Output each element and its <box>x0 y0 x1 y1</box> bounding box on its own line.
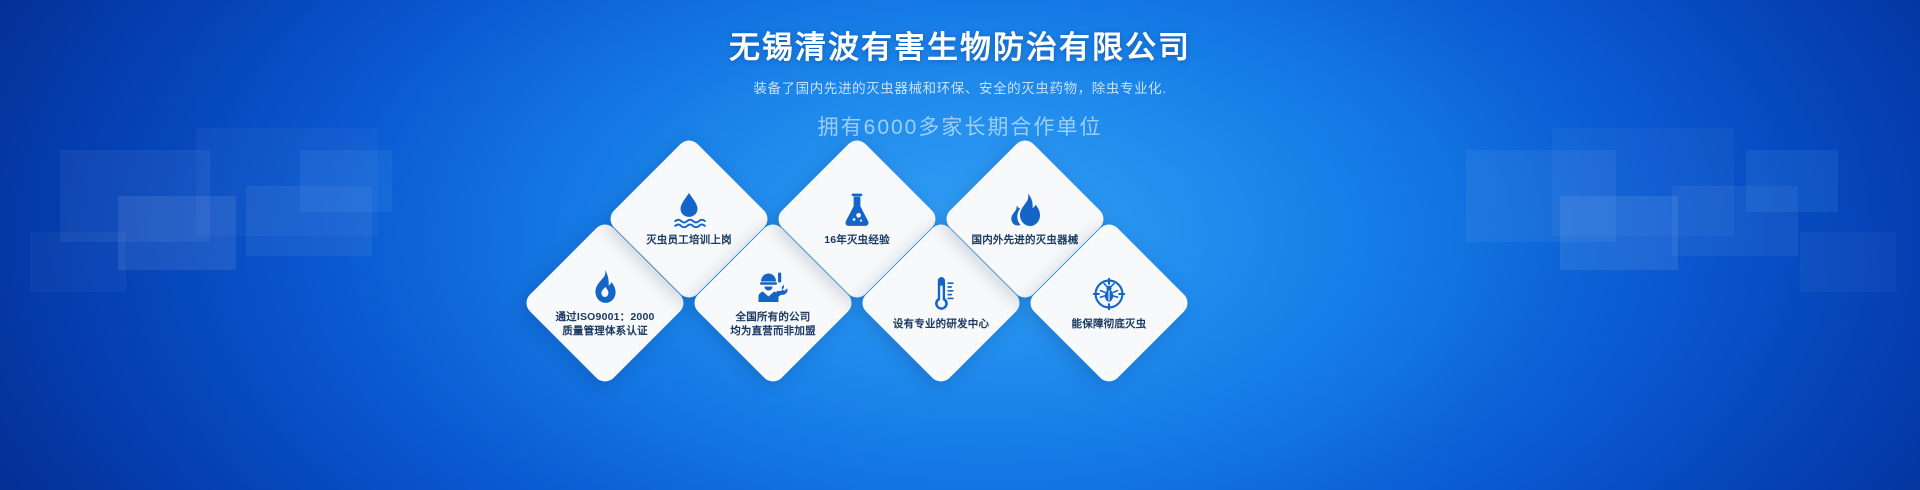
bug-target-icon <box>1092 276 1126 312</box>
feature-card-line1: 通过ISO9001：2000 <box>555 311 654 323</box>
feature-card-label: 设有专业的研发中心 <box>893 317 989 331</box>
thermometer-icon <box>924 276 958 312</box>
worker-wrench-icon <box>756 269 790 305</box>
feature-card-line1: 设有专业的研发中心 <box>893 318 989 330</box>
feature-card-line1: 16年灭虫经验 <box>824 234 890 246</box>
feature-card-label: 通过ISO9001：2000 质量管理体系认证 <box>555 310 654 338</box>
feature-card-label: 能保障彻底灭虫 <box>1072 317 1147 331</box>
feature-card-line2: 均为直营而非加盟 <box>730 324 816 338</box>
feature-card-guarantee[interactable]: 能保障彻底灭虫 <box>1026 220 1193 387</box>
feature-card-line1: 全国所有的公司 <box>736 311 811 323</box>
promo-banner: 无锡清波有害生物防治有限公司 装备了国内先进的灭虫器械和环保、安全的灭虫药物，除… <box>0 0 1920 490</box>
flask-icon <box>840 192 874 228</box>
feature-diamond-grid: 通过ISO9001：2000 质量管理体系认证 灭虫员工培训上岗 <box>0 148 1920 398</box>
feature-card-line1: 能保障彻底灭虫 <box>1072 318 1147 330</box>
water-drop-icon <box>672 192 706 228</box>
banner-title: 无锡清波有害生物防治有限公司 <box>0 28 1920 68</box>
banner-subtitle: 装备了国内先进的灭虫器械和环保、安全的灭虫药物，除虫专业化. <box>0 79 1920 99</box>
feature-card-label: 16年灭虫经验 <box>824 233 890 247</box>
fire-icon <box>1008 192 1042 228</box>
feature-card-line2: 质量管理体系认证 <box>555 324 654 338</box>
banner-tagline: 拥有6000多家长期合作单位 <box>0 113 1920 143</box>
banner-headings: 无锡清波有害生物防治有限公司 装备了国内先进的灭虫器械和环保、安全的灭虫药物，除… <box>0 0 1920 143</box>
feature-card-label: 全国所有的公司 均为直营而非加盟 <box>730 310 816 338</box>
flame-icon <box>588 269 622 305</box>
